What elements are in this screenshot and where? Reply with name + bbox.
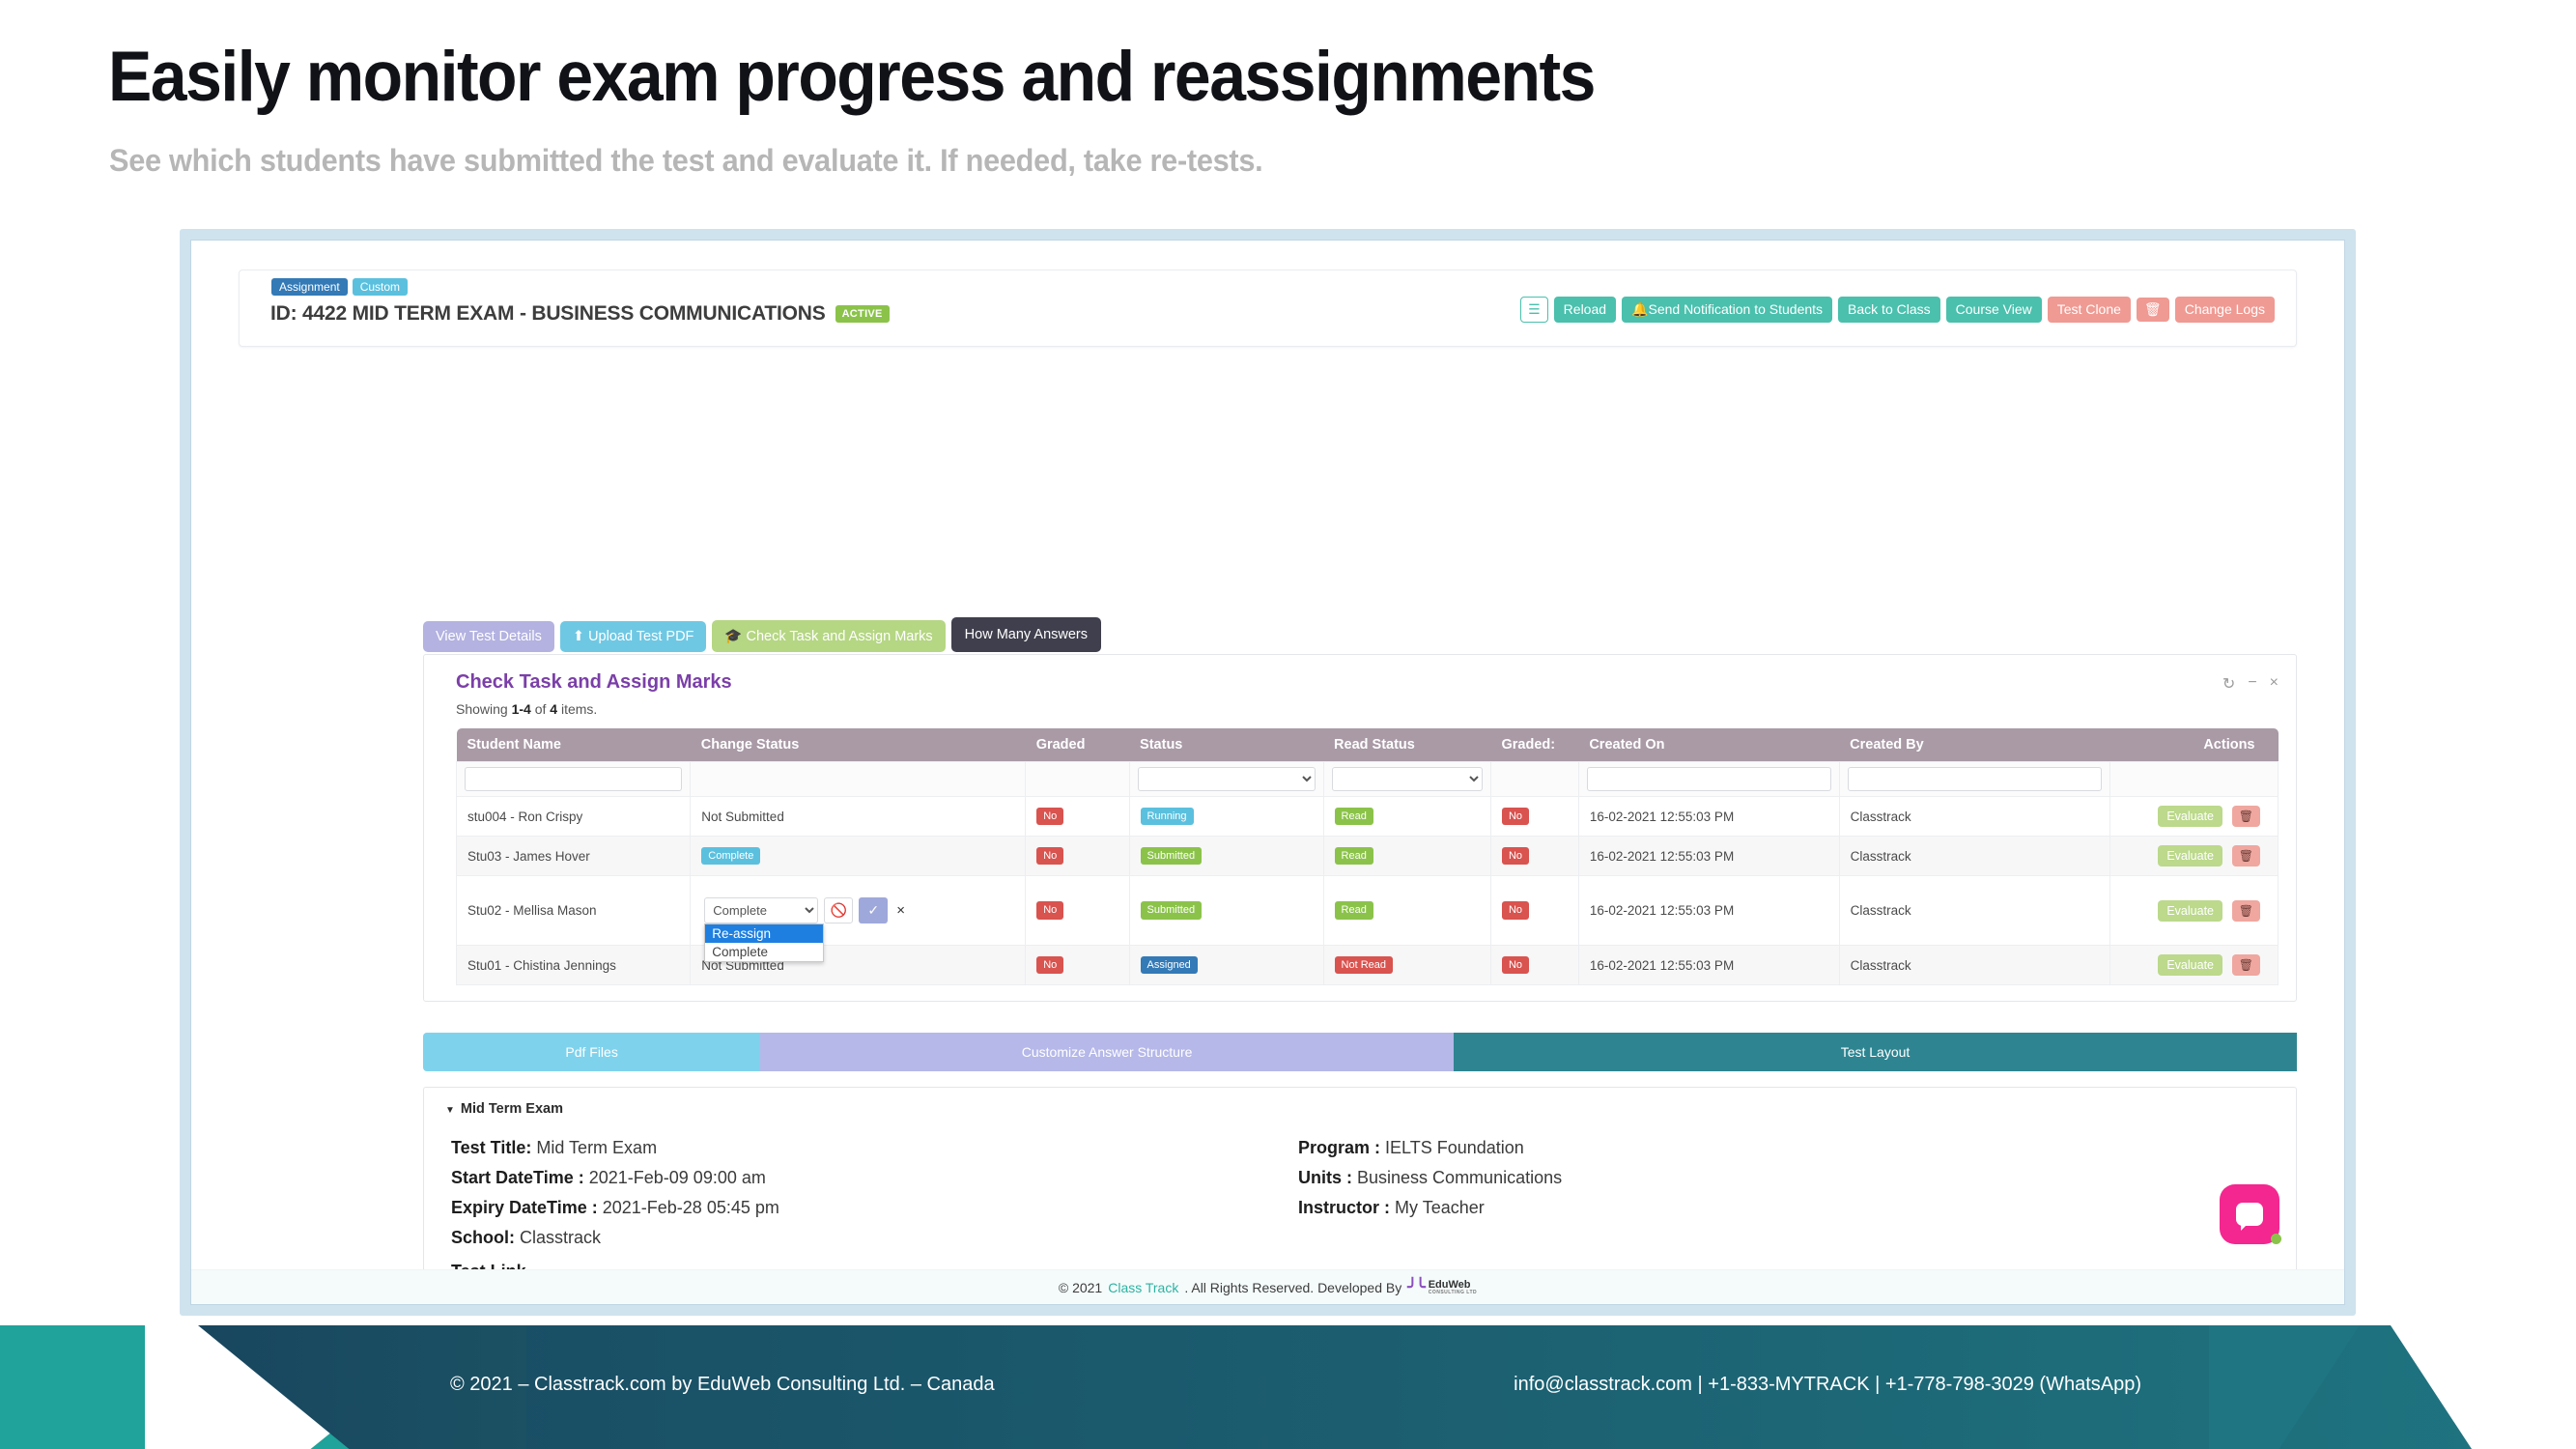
caret-down-icon: ▼ xyxy=(445,1105,455,1116)
table-row[interactable]: Stu02 - Mellisa Mason Complete 🚫 ✓ × xyxy=(457,876,2279,946)
trash-icon[interactable]: 🗑 xyxy=(2137,298,2169,322)
details-section-title: Mid Term Exam xyxy=(461,1101,563,1117)
list-icon[interactable]: ☰ xyxy=(1520,297,1548,323)
bell-icon: 🔔 xyxy=(1631,301,1648,317)
detail-start-datetime: Start DateTime : 2021-Feb-09 09:00 am xyxy=(451,1168,779,1188)
filter-change-status-cell xyxy=(691,762,1026,797)
section-tabs: View Test Details ⬆ Upload Test PDF 🎓 Ch… xyxy=(423,617,1101,652)
course-view-button[interactable]: Course View xyxy=(1946,297,2042,323)
detail-school-label: School: xyxy=(451,1228,515,1247)
evaluate-button[interactable]: Evaluate xyxy=(2158,954,2222,976)
detail-test-title: Test Title: Mid Term Exam xyxy=(451,1138,779,1158)
row-trash-icon[interactable]: 🗑 xyxy=(2232,954,2260,976)
bar-pdf-files[interactable]: Pdf Files xyxy=(423,1033,760,1071)
x-icon[interactable]: × xyxy=(893,902,908,919)
filter-read-status-select[interactable] xyxy=(1332,767,1483,791)
showing-prefix: Showing xyxy=(456,701,512,717)
bar-customize-answer-structure[interactable]: Customize Answer Structure xyxy=(760,1033,1454,1071)
eduweb-logo-icon: ╯╰ EduWebCONSULTING LTD xyxy=(1407,1278,1477,1297)
cell-read-status: Read xyxy=(1323,837,1490,876)
cell-status: Assigned xyxy=(1129,946,1323,985)
filter-student-name-cell xyxy=(457,762,691,797)
evaluate-button[interactable]: Evaluate xyxy=(2158,845,2222,867)
footer-brand-link[interactable]: Class Track xyxy=(1108,1280,1178,1295)
panel-showing-count: Showing 1-4 of 4 items. xyxy=(456,701,597,717)
chat-bubble-icon[interactable] xyxy=(2220,1184,2279,1244)
detail-expiry-label: Expiry DateTime : xyxy=(451,1198,598,1217)
detail-units-value: Business Communications xyxy=(1357,1168,1562,1187)
showing-range: 1-4 xyxy=(512,701,531,717)
evaluate-button[interactable]: Evaluate xyxy=(2158,900,2222,922)
detail-start-value: 2021-Feb-09 09:00 am xyxy=(589,1168,766,1187)
exam-chips: Assignment Custom xyxy=(271,278,408,296)
cell-created-by: Classtrack xyxy=(1839,876,2110,946)
table-header-row: Student Name Change Status Graded Status… xyxy=(457,728,2279,762)
exam-header-card: Assignment Custom ID: 4422 MID TERM EXAM… xyxy=(239,270,2297,347)
send-notification-label: Send Notification to Students xyxy=(1648,301,1823,317)
change-status-editor: Complete 🚫 ✓ × Re-assign Complete xyxy=(701,895,911,926)
tab-upload-label: Upload Test PDF xyxy=(588,629,694,644)
detail-start-label: Start DateTime : xyxy=(451,1168,584,1187)
content-tab-bar: Pdf Files Customize Answer Structure Tes… xyxy=(423,1033,2297,1071)
graded2-tag: No xyxy=(1502,808,1529,825)
graded-tag: No xyxy=(1036,808,1063,825)
th-graded-2: Graded: xyxy=(1490,728,1578,762)
filter-created-on-cell xyxy=(1578,762,1839,797)
detail-test-title-value: Mid Term Exam xyxy=(536,1138,657,1157)
cell-created-on: 16-02-2021 12:55:03 PM xyxy=(1578,797,1839,837)
cell-created-on: 16-02-2021 12:55:03 PM xyxy=(1578,946,1839,985)
eduweb-name: EduWeb xyxy=(1429,1279,1471,1291)
eduweb-wordmark: EduWebCONSULTING LTD xyxy=(1429,1280,1477,1295)
status-tag: Submitted xyxy=(1141,901,1203,919)
cell-student-name: Stu01 - Chistina Jennings xyxy=(457,946,691,985)
footer-rest: . All Rights Reserved. Developed By xyxy=(1184,1280,1401,1295)
detail-program: Program : IELTS Foundation xyxy=(1298,1138,1562,1158)
detail-expiry-datetime: Expiry DateTime : 2021-Feb-28 05:45 pm xyxy=(451,1198,779,1218)
details-right-column: Program : IELTS Foundation Units : Busin… xyxy=(1298,1138,1562,1228)
eduweb-sub: CONSULTING LTD xyxy=(1429,1291,1477,1295)
cell-student-name: Stu03 - James Hover xyxy=(457,837,691,876)
cell-change-status[interactable]: Complete xyxy=(691,837,1026,876)
page-root: Easily monitor exam progress and reassig… xyxy=(0,0,2576,1449)
test-clone-button[interactable]: Test Clone xyxy=(2048,297,2131,323)
back-to-class-button[interactable]: Back to Class xyxy=(1838,297,1940,323)
banner-copyright: © 2021 – Classtrack.com by EduWeb Consul… xyxy=(450,1374,995,1396)
cell-graded-2: No xyxy=(1490,876,1578,946)
chat-bubble-shape xyxy=(2236,1203,2263,1226)
chip-custom: Custom xyxy=(353,278,408,296)
cell-created-by: Classtrack xyxy=(1839,946,2110,985)
cell-read-status: Read xyxy=(1323,797,1490,837)
detail-expiry-value: 2021-Feb-28 05:45 pm xyxy=(603,1198,779,1217)
footer-copyright: © 2021 xyxy=(1059,1280,1102,1295)
dropdown-option-re-assign[interactable]: Re-assign xyxy=(705,924,823,943)
th-student-name: Student Name xyxy=(457,728,691,762)
dropdown-option-complete[interactable]: Complete xyxy=(705,943,823,961)
row-trash-icon[interactable]: 🗑 xyxy=(2232,845,2260,867)
tab-upload-test-pdf[interactable]: ⬆ Upload Test PDF xyxy=(560,621,707,652)
showing-total: 4 xyxy=(550,701,557,717)
app-footer: © 2021 Class Track . All Rights Reserved… xyxy=(191,1269,2344,1304)
th-graded: Graded xyxy=(1026,728,1129,762)
cell-graded: No xyxy=(1026,837,1129,876)
cell-actions: Evaluate 🗑 xyxy=(2110,876,2279,946)
read-status-tag: Read xyxy=(1335,901,1373,919)
filter-graded-cell xyxy=(1026,762,1129,797)
check-task-panel: Check Task and Assign Marks Showing 1-4 … xyxy=(423,654,2297,1002)
tab-view-test-details[interactable]: View Test Details xyxy=(423,621,554,652)
graded-tag: No xyxy=(1036,847,1063,865)
cell-graded-2: No xyxy=(1490,946,1578,985)
browser-viewport: Assignment Custom ID: 4422 MID TERM EXAM… xyxy=(190,240,2345,1305)
status-tag: Assigned xyxy=(1141,956,1198,974)
cell-change-status[interactable]: Complete 🚫 ✓ × Re-assign Complete xyxy=(691,876,1026,946)
banner-contact: info@classtrack.com | +1-833-MYTRACK | +… xyxy=(1514,1374,2141,1396)
block-icon[interactable]: 🚫 xyxy=(824,897,853,923)
graded-tag: No xyxy=(1036,956,1063,974)
filter-created-on-input[interactable] xyxy=(1587,767,1831,791)
cell-actions: Evaluate 🗑 xyxy=(2110,797,2279,837)
read-status-tag: Read xyxy=(1335,847,1373,865)
cell-graded: No xyxy=(1026,797,1129,837)
change-status-select[interactable]: Complete xyxy=(704,897,818,923)
cell-student-name: stu004 - Ron Crispy xyxy=(457,797,691,837)
row-trash-icon[interactable]: 🗑 xyxy=(2232,900,2260,922)
detail-units: Units : Business Communications xyxy=(1298,1168,1562,1188)
eduweb-mark: ╯╰ xyxy=(1407,1278,1423,1297)
detail-school: School: Classtrack xyxy=(451,1228,779,1248)
cell-student-name: Stu02 - Mellisa Mason xyxy=(457,876,691,946)
cell-graded-2: No xyxy=(1490,797,1578,837)
cell-created-by: Classtrack xyxy=(1839,837,2110,876)
page-subheadline: See which students have submitted the te… xyxy=(109,143,1262,179)
tab-check-task-assign-marks[interactable]: 🎓 Check Task and Assign Marks xyxy=(712,620,945,652)
cell-status: Running xyxy=(1129,797,1323,837)
app-container: Assignment Custom ID: 4422 MID TERM EXAM… xyxy=(191,241,2344,1304)
panel-title: Check Task and Assign Marks xyxy=(456,671,732,694)
graded2-tag: No xyxy=(1502,901,1529,919)
bar-test-layout[interactable]: Test Layout xyxy=(1454,1033,2297,1071)
status-tag: Running xyxy=(1141,808,1194,825)
graded-tag: No xyxy=(1036,901,1063,919)
read-status-tag: Read xyxy=(1335,808,1373,825)
cell-change-status[interactable]: Not Submitted xyxy=(691,797,1026,837)
cell-created-on: 16-02-2021 12:55:03 PM xyxy=(1578,837,1839,876)
detail-program-label: Program : xyxy=(1298,1138,1380,1157)
detail-school-value: Classtrack xyxy=(520,1228,601,1247)
cell-created-by: Classtrack xyxy=(1839,797,2110,837)
th-read-status: Read Status xyxy=(1323,728,1490,762)
detail-units-label: Units : xyxy=(1298,1168,1352,1187)
filter-status-cell xyxy=(1129,762,1323,797)
cell-actions: Evaluate 🗑 xyxy=(2110,837,2279,876)
th-change-status: Change Status xyxy=(691,728,1026,762)
browser-frame: Assignment Custom ID: 4422 MID TERM EXAM… xyxy=(180,229,2356,1316)
exam-title-text: ID: 4422 MID TERM EXAM - BUSINESS COMMUN… xyxy=(270,302,826,325)
detail-instructor: Instructor : My Teacher xyxy=(1298,1198,1562,1218)
showing-suffix: items. xyxy=(557,701,597,717)
filter-status-select[interactable] xyxy=(1138,767,1316,791)
exam-title: ID: 4422 MID TERM EXAM - BUSINESS COMMUN… xyxy=(270,302,890,326)
tab-how-many-answers[interactable]: How Many Answers xyxy=(951,617,1101,652)
th-status: Status xyxy=(1129,728,1323,762)
detail-program-value: IELTS Foundation xyxy=(1385,1138,1524,1157)
page-headline: Easily monitor exam progress and reassig… xyxy=(108,37,1595,117)
th-created-on: Created On xyxy=(1578,728,1839,762)
status-badge: ACTIVE xyxy=(835,305,890,323)
header-action-bar: ☰ Reload 🔔Send Notification to Students … xyxy=(1520,297,2275,323)
th-created-by: Created By xyxy=(1839,728,2110,762)
detail-test-title-label: Test Title: xyxy=(451,1138,531,1157)
graded2-tag: No xyxy=(1502,847,1529,865)
change-status-dropdown: Re-assign Complete xyxy=(704,923,824,962)
refresh-icon[interactable]: ↻ xyxy=(2222,674,2235,694)
filter-student-name-input[interactable] xyxy=(465,767,682,791)
table-row[interactable]: Stu03 - James Hover Complete No Submitte… xyxy=(457,837,2279,876)
page-footer-banner: © 2021 – Classtrack.com by EduWeb Consul… xyxy=(0,1325,2576,1449)
filter-created-by-cell xyxy=(1839,762,2110,797)
showing-mid: of xyxy=(531,701,550,717)
check-icon[interactable]: ✓ xyxy=(859,897,888,923)
cell-created-on: 16-02-2021 12:55:03 PM xyxy=(1578,876,1839,946)
table-filter-row xyxy=(457,762,2279,797)
filter-graded2-cell xyxy=(1490,762,1578,797)
tab-check-label: Check Task and Assign Marks xyxy=(747,629,933,644)
graduation-cap-icon: 🎓 xyxy=(724,629,742,644)
panel-controls: ↻ − × xyxy=(2222,674,2279,694)
detail-instructor-label: Instructor : xyxy=(1298,1198,1390,1217)
chip-assignment: Assignment xyxy=(271,278,348,296)
change-status-tag[interactable]: Complete xyxy=(701,847,760,865)
details-section-header[interactable]: ▼Mid Term Exam xyxy=(445,1101,563,1117)
send-notification-button[interactable]: 🔔Send Notification to Students xyxy=(1622,297,1832,323)
filter-created-by-input[interactable] xyxy=(1848,767,2103,791)
upload-icon: ⬆ xyxy=(573,629,584,644)
filter-read-status-cell xyxy=(1323,762,1490,797)
row-trash-icon[interactable]: 🗑 xyxy=(2232,806,2260,827)
cell-read-status: Read xyxy=(1323,876,1490,946)
graded2-tag: No xyxy=(1502,956,1529,974)
th-actions: Actions xyxy=(2110,728,2279,762)
read-status-tag: Not Read xyxy=(1335,956,1393,974)
cell-read-status: Not Read xyxy=(1323,946,1490,985)
filter-actions-cell xyxy=(2110,762,2279,797)
cell-status: Submitted xyxy=(1129,837,1323,876)
cell-graded-2: No xyxy=(1490,837,1578,876)
cell-status: Submitted xyxy=(1129,876,1323,946)
table-row[interactable]: stu004 - Ron Crispy Not Submitted No Run… xyxy=(457,797,2279,837)
close-icon[interactable]: × xyxy=(2270,674,2279,694)
detail-instructor-value: My Teacher xyxy=(1395,1198,1485,1217)
students-table: Student Name Change Status Graded Status… xyxy=(456,728,2279,985)
chat-online-dot xyxy=(2271,1234,2281,1244)
cell-graded: No xyxy=(1026,876,1129,946)
minimize-icon[interactable]: − xyxy=(2248,674,2256,694)
status-tag: Submitted xyxy=(1141,847,1203,865)
evaluate-button[interactable]: Evaluate xyxy=(2158,806,2222,827)
cell-graded: No xyxy=(1026,946,1129,985)
cell-actions: Evaluate 🗑 xyxy=(2110,946,2279,985)
change-logs-button[interactable]: Change Logs xyxy=(2175,297,2275,323)
reload-button[interactable]: Reload xyxy=(1554,297,1616,323)
